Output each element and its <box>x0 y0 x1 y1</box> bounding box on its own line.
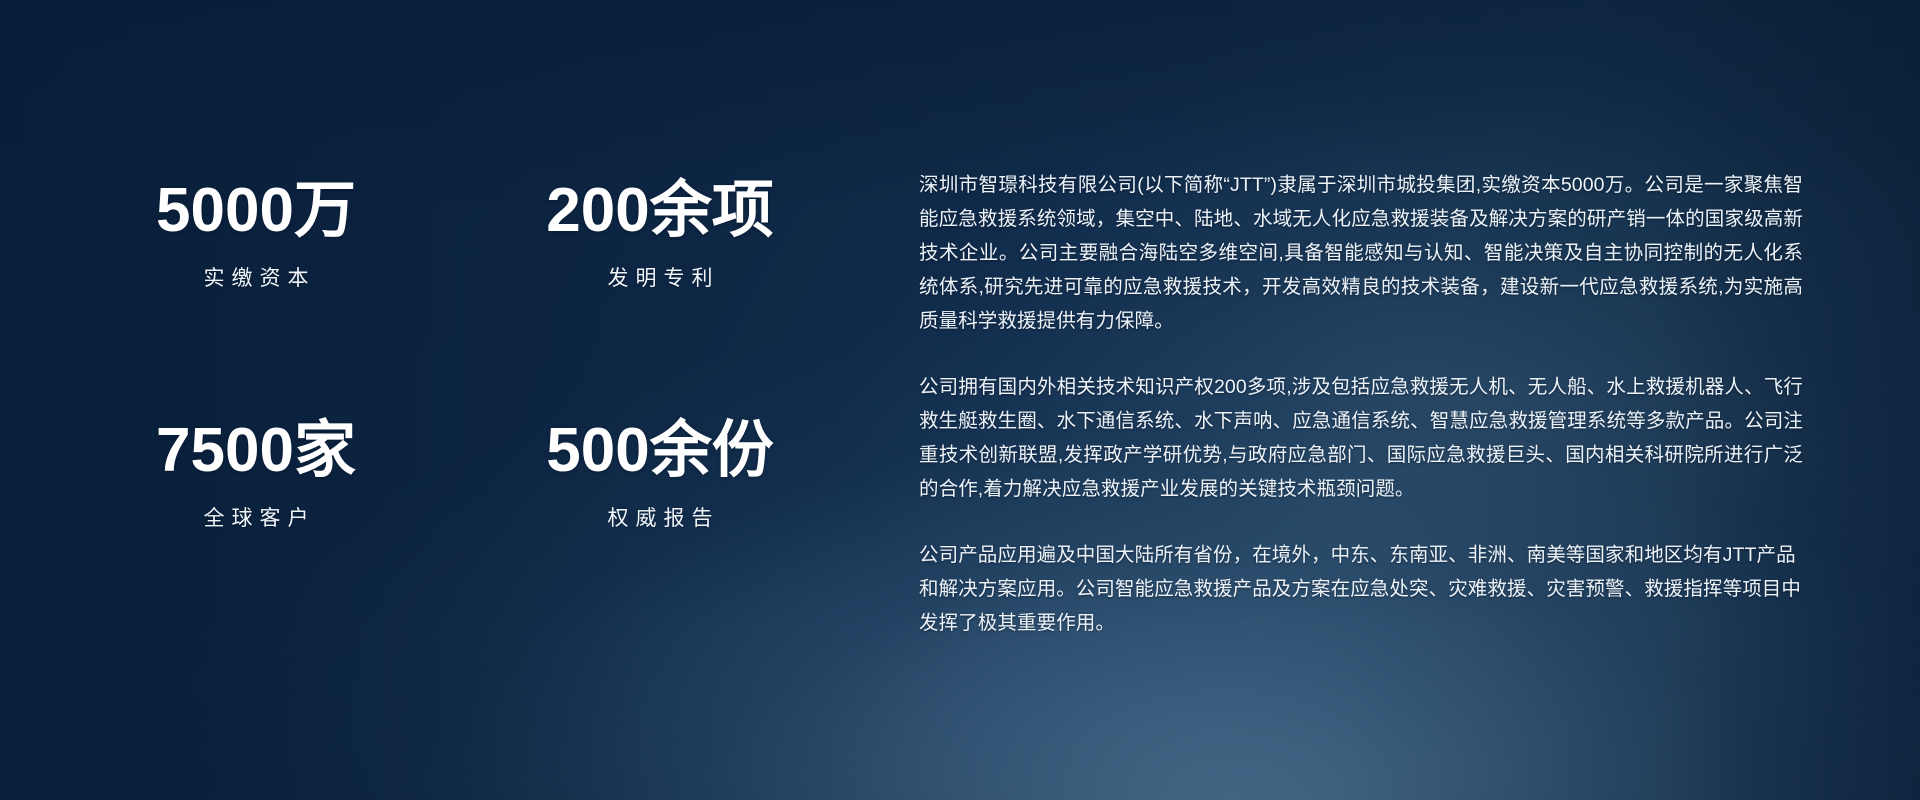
stat-value: 200余项 <box>532 178 788 245</box>
description-paragraph-2: 公司拥有国内外相关技术知识产权200多项,涉及包括应急救援无人机、无人船、水上救… <box>919 370 1803 506</box>
stat-value: 5000万 <box>128 178 384 245</box>
stat-card-invention-patents: 200余项 发明专利 <box>532 178 788 292</box>
stat-label: 权威报告 <box>532 502 788 532</box>
stat-label: 实缴资本 <box>128 262 384 292</box>
company-description: 深圳市智璟科技有限公司(以下简称“JTT”)隶属于深圳市城投集团,实缴资本500… <box>919 168 1803 640</box>
key-statistics-grid: 5000万 实缴资本 200余项 发明专利 7500家 全球客户 500余份 权… <box>128 178 788 532</box>
stat-value: 7500家 <box>128 418 384 485</box>
stat-label: 全球客户 <box>128 502 384 532</box>
stat-card-registered-capital: 5000万 实缴资本 <box>128 178 384 292</box>
stat-label: 发明专利 <box>532 262 788 292</box>
slide-content: 5000万 实缴资本 200余项 发明专利 7500家 全球客户 500余份 权… <box>0 0 1920 800</box>
description-paragraph-1: 深圳市智璟科技有限公司(以下简称“JTT”)隶属于深圳市城投集团,实缴资本500… <box>919 168 1803 338</box>
stat-card-authoritative-reports: 500余份 权威报告 <box>532 418 788 532</box>
stat-card-global-customers: 7500家 全球客户 <box>128 418 384 532</box>
description-paragraph-3: 公司产品应用遍及中国大陆所有省份，在境外，中东、东南亚、非洲、南美等国家和地区均… <box>919 538 1803 640</box>
stat-value: 500余份 <box>532 418 788 485</box>
company-profile-slide: 5000万 实缴资本 200余项 发明专利 7500家 全球客户 500余份 权… <box>0 0 1920 800</box>
